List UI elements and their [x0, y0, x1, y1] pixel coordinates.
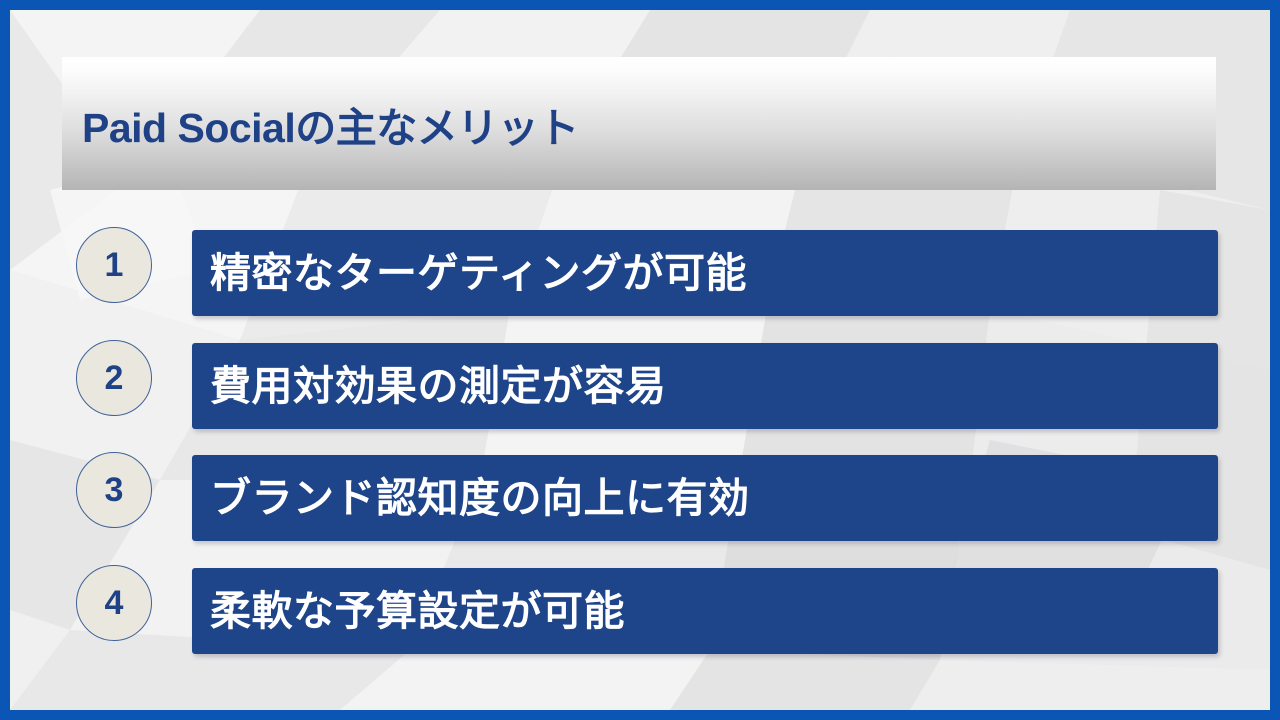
item-number-badge: 3 [76, 452, 152, 528]
item-bar[interactable]: 費用対効果の測定が容易 [192, 343, 1218, 429]
slide-canvas: Paid Socialの主なメリット 1 精密なターゲティングが可能 2 費用対… [10, 10, 1270, 710]
item-label: 費用対効果の測定が容易 [192, 366, 667, 407]
item-label: 精密なターゲティングが可能 [192, 253, 747, 294]
item-bar[interactable]: 精密なターゲティングが可能 [192, 230, 1218, 316]
item-bar[interactable]: ブランド認知度の向上に有効 [192, 455, 1218, 541]
list-item[interactable]: 4 柔軟な予算設定が可能 [10, 568, 1270, 654]
item-number-badge: 2 [76, 340, 152, 416]
item-number-badge: 4 [76, 565, 152, 641]
list-item[interactable]: 2 費用対効果の測定が容易 [10, 343, 1270, 429]
item-bar[interactable]: 柔軟な予算設定が可能 [192, 568, 1218, 654]
slide-root: Paid Socialの主なメリット 1 精密なターゲティングが可能 2 費用対… [0, 0, 1280, 720]
item-label: 柔軟な予算設定が可能 [192, 591, 625, 632]
list-item[interactable]: 1 精密なターゲティングが可能 [10, 230, 1270, 316]
list-item[interactable]: 3 ブランド認知度の向上に有効 [10, 455, 1270, 541]
benefit-list: 1 精密なターゲティングが可能 2 費用対効果の測定が容易 3 ブランド認知度の… [10, 10, 1270, 710]
item-label: ブランド認知度の向上に有効 [192, 478, 750, 519]
item-number-badge: 1 [76, 227, 152, 303]
